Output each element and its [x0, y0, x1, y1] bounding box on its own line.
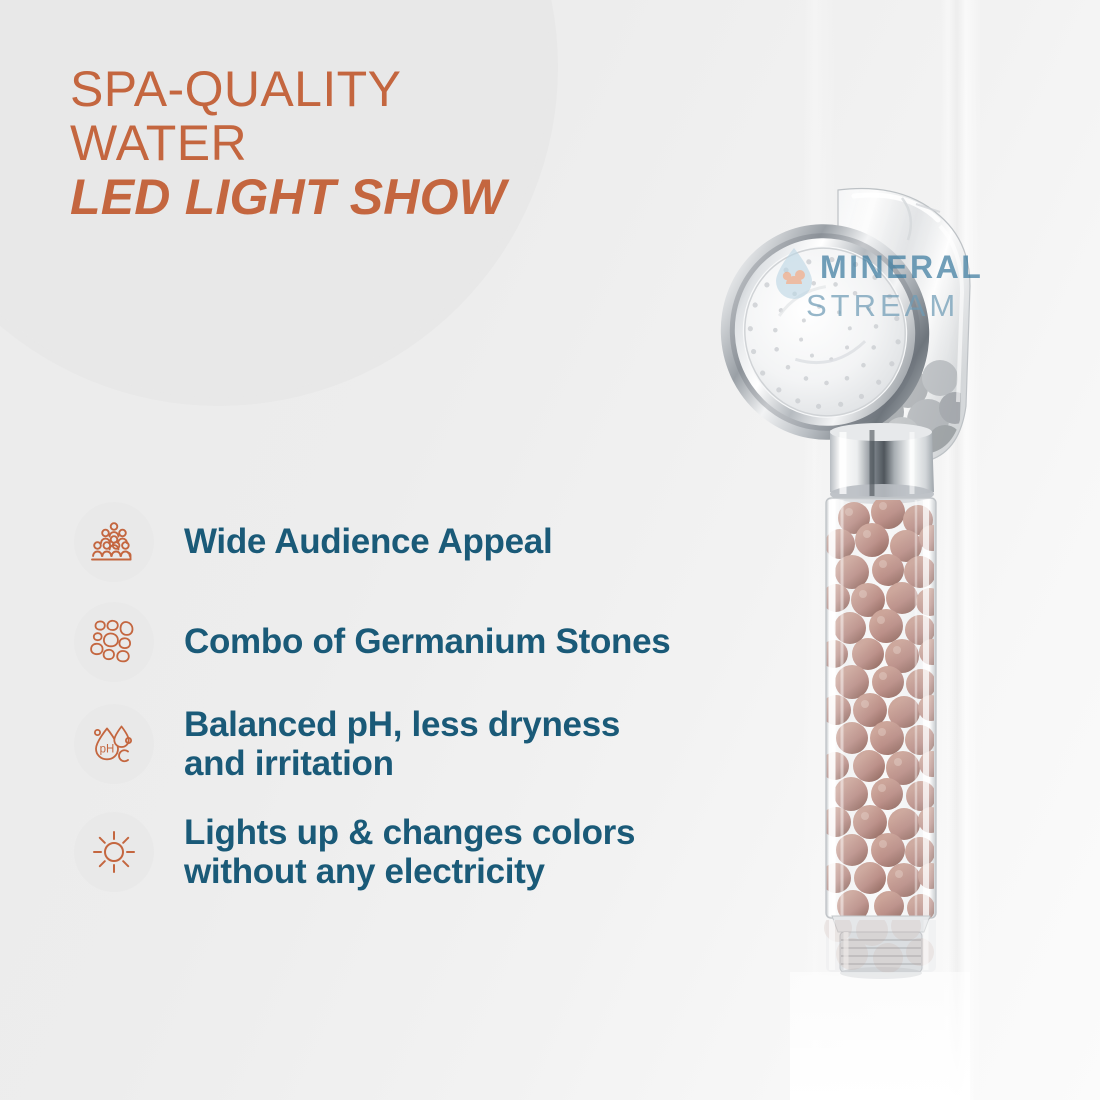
- chrome-collar: [830, 423, 934, 504]
- feature-label: Balanced pH, less dryness and irritation: [184, 705, 620, 783]
- feature-label: Lights up & changes colors without any e…: [184, 813, 635, 891]
- ph-label: pH: [100, 744, 115, 756]
- handle-tube: [820, 495, 945, 922]
- crowd-icon: [74, 502, 154, 582]
- feature-label: Wide Audience Appeal: [184, 522, 552, 562]
- feature-label-line-2: and irritation: [184, 744, 394, 783]
- feature-list: Wide Audience Appeal Combo of Germanium …: [74, 500, 794, 894]
- headline-line-1: SPA-QUALITY: [70, 64, 506, 115]
- headline: SPA-QUALITY WATER LED LIGHT SHOW: [70, 64, 506, 223]
- feature-label-line-1: Lights up & changes colors: [184, 813, 635, 852]
- feature-label: Combo of Germanium Stones: [184, 622, 670, 662]
- stones-icon: [74, 602, 154, 682]
- headline-line-3: LED LIGHT SHOW: [70, 172, 506, 223]
- ph-droplet-icon: pH: [74, 704, 154, 784]
- reflection-fade-overlay: [790, 972, 970, 1100]
- watermark-line-2: STREAM: [806, 288, 959, 323]
- feature-label-line-1: Balanced pH, less dryness: [184, 705, 620, 744]
- sun-icon: [74, 812, 154, 892]
- headline-line-2: WATER: [70, 118, 506, 169]
- feature-row-wide-audience-appeal: Wide Audience Appeal: [74, 500, 794, 584]
- feature-row-led-lights: Lights up & changes colors without any e…: [74, 810, 794, 894]
- feature-row-germanium-stones: Combo of Germanium Stones: [74, 600, 794, 684]
- feature-label-line-2: without any electricity: [184, 852, 545, 891]
- watermark-line-1: MINERAL: [820, 249, 983, 285]
- feature-row-balanced-ph: pH Balanced pH, less dryness and irritat…: [74, 702, 794, 786]
